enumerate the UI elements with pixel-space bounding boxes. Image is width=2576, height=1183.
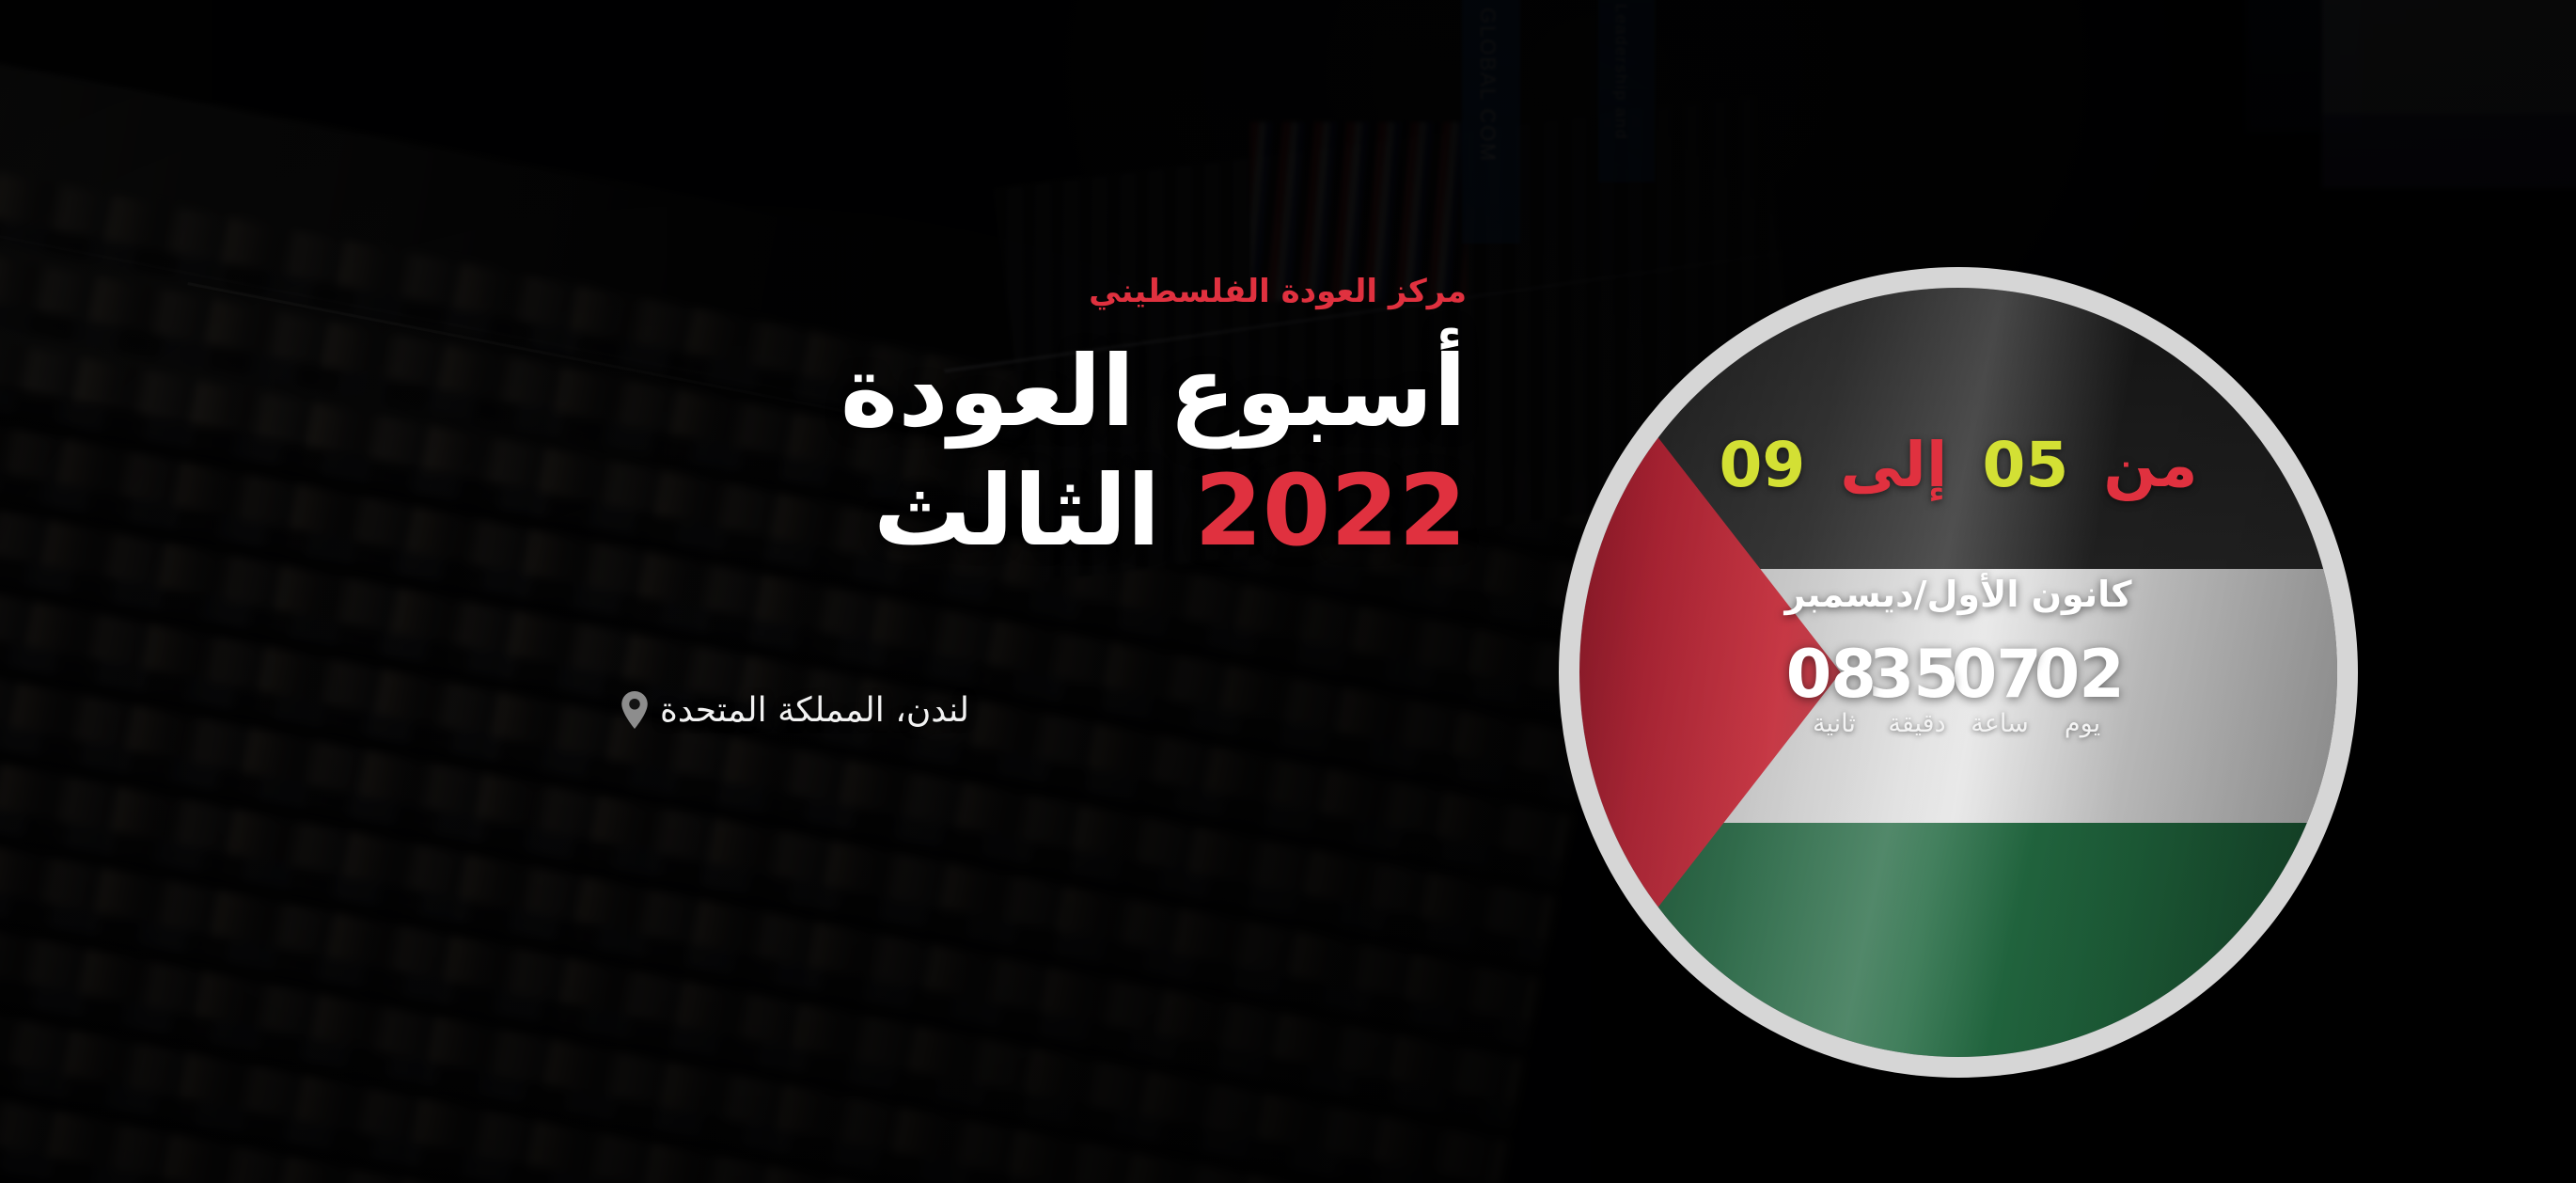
date-from-day: 05 [1982, 429, 2068, 501]
date-to-day: 09 [1719, 429, 1805, 501]
event-month: كانون الأول/ديسمبر [1785, 574, 2132, 615]
countdown-unit-seconds: 08 ثانية [1793, 641, 1876, 736]
countdown-seconds-label: ثانية [1793, 711, 1876, 736]
event-title-line2-wrap: 2022 الثالث [620, 451, 1467, 571]
event-title-line2: الثالث [873, 453, 1160, 568]
countdown-hours-label: ساعة [1958, 711, 2041, 736]
countdown-timer: 02 يوم 07 ساعة 35 دقيقة 08 ثانية [1793, 641, 2124, 736]
countdown-hours-value: 07 [1958, 641, 2041, 707]
event-title-line1: أسبوع العودة [620, 332, 1467, 451]
countdown-minutes-value: 35 [1876, 641, 1958, 707]
countdown-unit-hours: 07 ساعة [1958, 641, 2041, 736]
event-location: لندن، المملكة المتحدة [620, 691, 1467, 730]
date-to-word: إلى [1840, 429, 1947, 501]
event-hero-banner: GLOBAL COM Leadership and مركز العودة ال… [0, 0, 2576, 1183]
event-year: 2022 [1195, 453, 1467, 568]
countdown-unit-days: 02 يوم [2041, 641, 2124, 736]
countdown-minutes-label: دقيقة [1876, 711, 1958, 736]
event-info-block: مركز العودة الفلسطيني أسبوع العودة 2022 … [620, 273, 1467, 730]
countdown-circle: من 05 إلى 09 كانون الأول/ديسمبر 02 يوم 0… [1559, 267, 2358, 1078]
event-location-text: لندن، المملكة المتحدة [660, 691, 969, 730]
event-date-range: من 05 إلى 09 [1712, 434, 2204, 497]
countdown-unit-minutes: 35 دقيقة [1876, 641, 1958, 736]
countdown-seconds-value: 08 [1793, 641, 1876, 707]
countdown-days-value: 02 [2041, 641, 2124, 707]
event-title: أسبوع العودة 2022 الثالث [620, 332, 1467, 571]
countdown-days-label: يوم [2041, 711, 2124, 736]
countdown-content: من 05 إلى 09 كانون الأول/ديسمبر 02 يوم 0… [1559, 267, 2358, 1078]
map-pin-icon [620, 691, 649, 729]
organization-name: مركز العودة الفلسطيني [620, 273, 1467, 311]
date-from-word: من [2103, 429, 2197, 501]
